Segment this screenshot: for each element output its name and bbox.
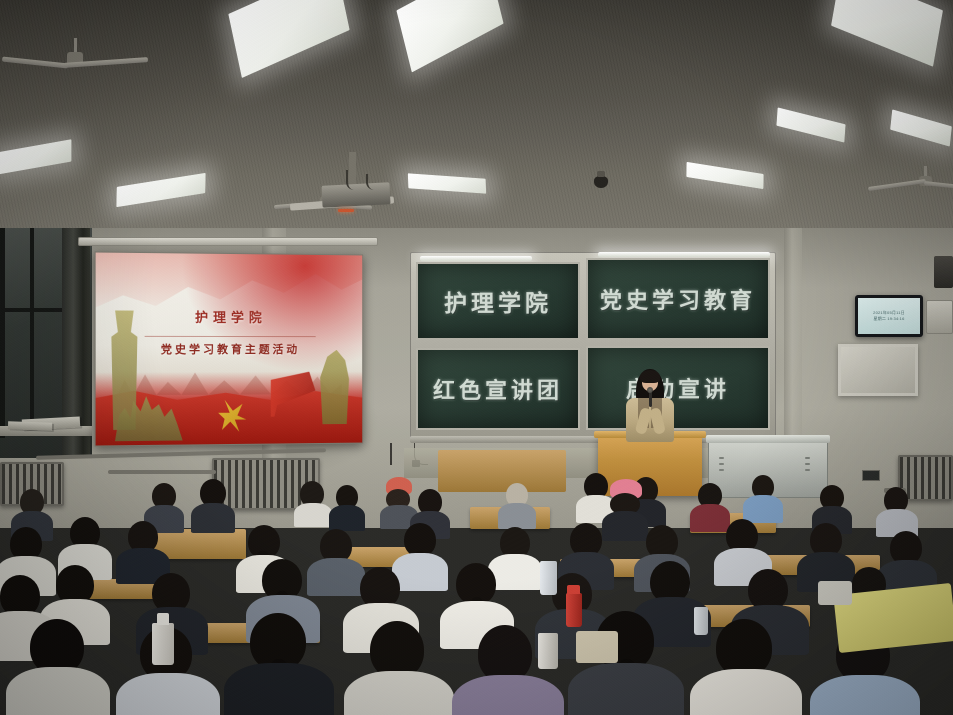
torso bbox=[498, 503, 536, 529]
slide-mountain-graphic bbox=[96, 252, 363, 341]
wall-speaker bbox=[934, 256, 953, 288]
wall-whiteboard bbox=[838, 344, 918, 396]
bottle-cap bbox=[157, 613, 169, 625]
blackboard-panel-top-left: 护理学院 bbox=[416, 262, 580, 340]
torso bbox=[690, 669, 802, 715]
torso bbox=[690, 504, 730, 532]
ceiling-projector bbox=[290, 152, 396, 224]
audience-area bbox=[0, 455, 953, 715]
torso bbox=[488, 554, 542, 590]
torso bbox=[116, 673, 220, 715]
window-mullion bbox=[30, 228, 34, 428]
photo-scene: 护理学院 党史学习教育主题活动 护理学院 党史学习教育 红色宣讲团 启动宣讲 2… bbox=[0, 0, 953, 715]
blackboard-text: 党史学习教育 bbox=[588, 283, 768, 315]
torso bbox=[191, 503, 235, 533]
projection-screen-housing bbox=[78, 237, 378, 246]
thermos-bottle bbox=[538, 633, 558, 669]
slide-title: 护理学院 bbox=[96, 307, 363, 327]
projection-screen: 护理学院 党史学习教育主题活动 bbox=[95, 251, 364, 446]
fan-blade bbox=[2, 57, 68, 69]
blackboard-panel-top-right: 党史学习教育 bbox=[586, 258, 770, 340]
blackboard-text: 红色宣讲团 bbox=[418, 373, 578, 405]
ceiling-fan bbox=[10, 38, 140, 78]
projector-cable bbox=[366, 174, 378, 190]
torso bbox=[743, 495, 783, 523]
fan-blade bbox=[924, 181, 953, 191]
wall-equipment-box bbox=[926, 300, 953, 334]
ceiling bbox=[0, 0, 953, 250]
blackboard-strip-light bbox=[420, 256, 532, 261]
presenter-fringe bbox=[640, 370, 660, 383]
papers-on-sill bbox=[8, 421, 52, 431]
torso bbox=[6, 667, 110, 715]
window-frame bbox=[0, 228, 5, 438]
bottle-cap bbox=[567, 585, 580, 594]
wall-information-display[interactable]: 2021年05月11日 星期二 19:34:16 bbox=[855, 295, 923, 337]
torso bbox=[568, 663, 684, 715]
torso bbox=[329, 505, 365, 531]
soda-bottle bbox=[566, 593, 582, 627]
torso bbox=[452, 675, 564, 715]
water-bottle bbox=[694, 607, 708, 635]
slide-subtitle: 党史学习教育主题活动 bbox=[96, 341, 363, 357]
blackboard-panel-bottom-left: 红色宣讲团 bbox=[416, 348, 580, 430]
blackboard-text: 护理学院 bbox=[418, 284, 578, 318]
torso bbox=[307, 558, 365, 596]
tote-bag bbox=[818, 581, 852, 605]
classroom-window bbox=[0, 228, 92, 458]
torso bbox=[810, 675, 920, 715]
water-bottle bbox=[540, 561, 557, 595]
slide-divider-rule bbox=[145, 336, 316, 337]
torso bbox=[344, 671, 454, 715]
ceiling-fan bbox=[880, 166, 953, 196]
wall-pillar bbox=[784, 228, 802, 466]
security-camera-icon bbox=[594, 176, 608, 188]
torso bbox=[392, 553, 448, 591]
torso bbox=[294, 503, 332, 527]
water-bottle bbox=[152, 623, 174, 665]
display-screen: 2021年05月11日 星期二 19:34:16 bbox=[858, 298, 920, 334]
console-top-surface bbox=[706, 435, 830, 443]
torso bbox=[602, 511, 648, 541]
slide-content: 护理学院 党史学习教育主题活动 bbox=[96, 252, 363, 445]
blackboard-strip-light bbox=[598, 252, 770, 257]
torso bbox=[224, 663, 334, 715]
display-line-2: 星期二 19:34:16 bbox=[873, 316, 904, 322]
microphone-body bbox=[649, 392, 652, 407]
projector-lens-indicator bbox=[338, 209, 354, 212]
projector-cable bbox=[346, 170, 362, 190]
tote-bag bbox=[576, 631, 618, 663]
microphone-head-icon bbox=[647, 387, 653, 393]
presenter bbox=[620, 372, 680, 440]
